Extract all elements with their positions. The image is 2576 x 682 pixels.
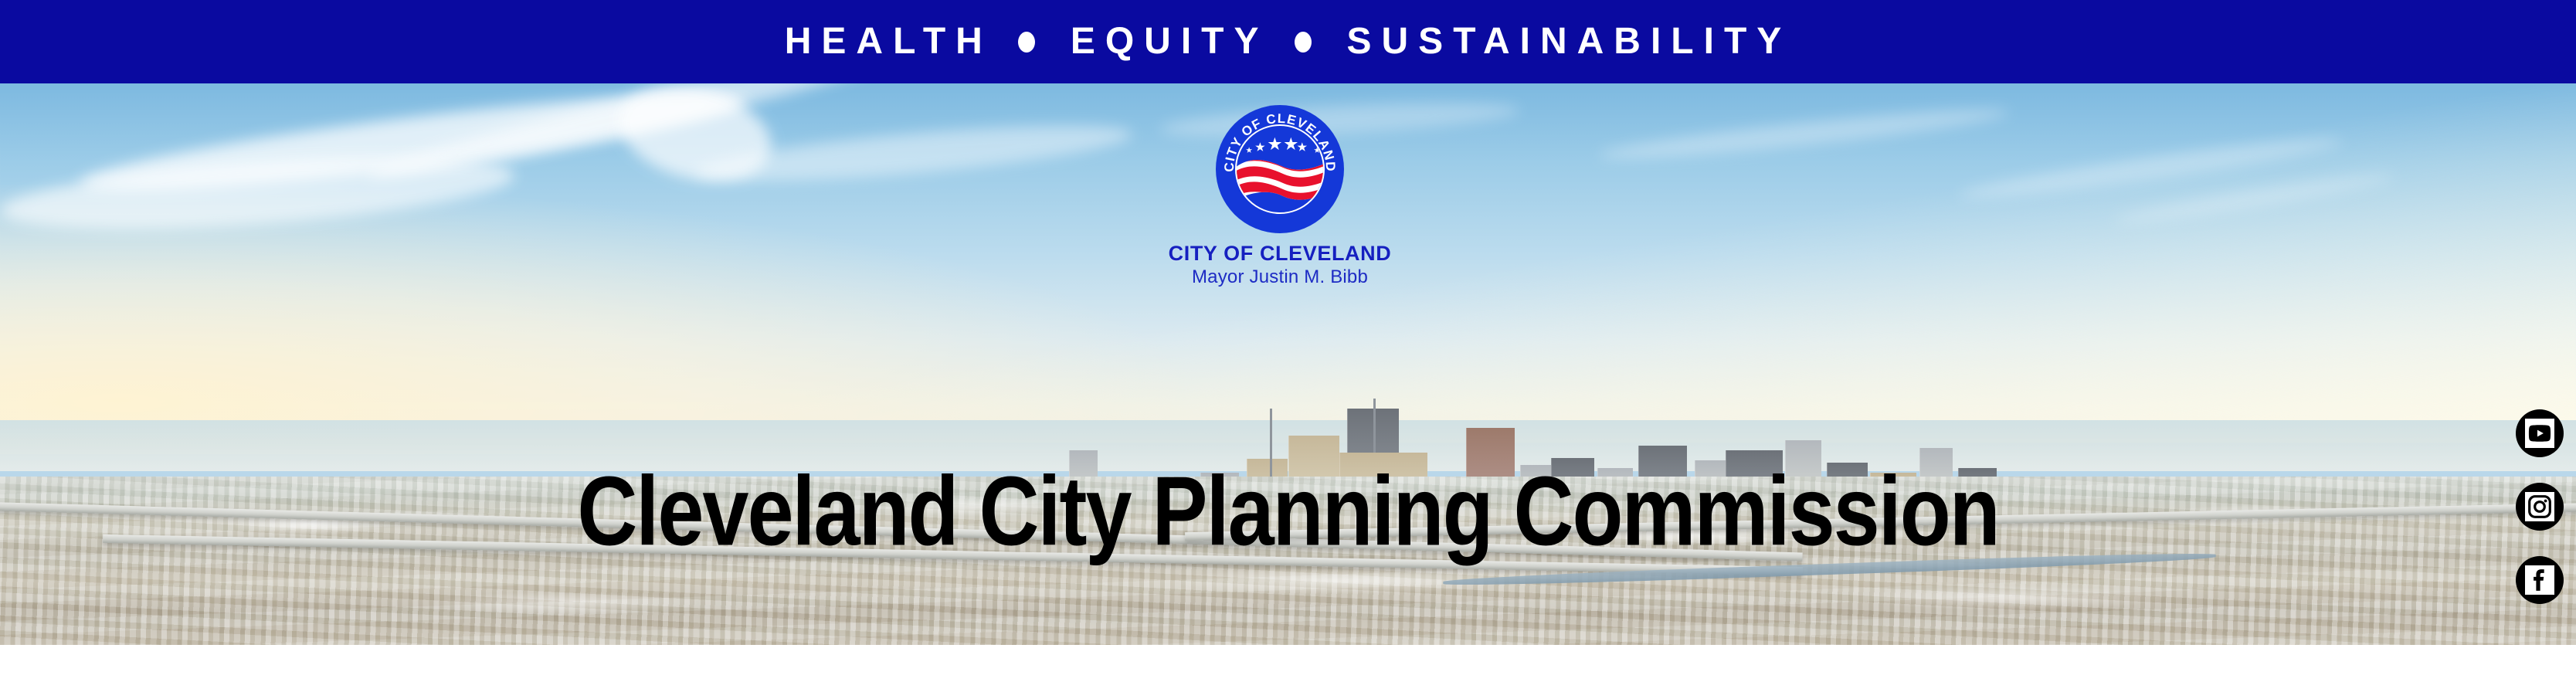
- tagline-banner: HEALTH EQUITY SUSTAINABILITY: [0, 0, 2576, 83]
- footer-whitespace: [0, 645, 2576, 682]
- tagline-word-health: HEALTH: [785, 23, 993, 60]
- facebook-icon: [2525, 565, 2554, 595]
- page-title: Cleveland City Planning Commission: [0, 462, 2576, 560]
- tagline-word-sustainability: SUSTAINABILITY: [1347, 23, 1792, 60]
- tagline-word-equity: EQUITY: [1071, 23, 1269, 60]
- instagram-link[interactable]: [2516, 483, 2564, 531]
- bullet-dot-icon: [1018, 32, 1035, 53]
- youtube-link[interactable]: [2516, 409, 2564, 457]
- youtube-icon: [2525, 419, 2554, 448]
- instagram-icon: [2525, 492, 2554, 521]
- hero-photo: CITY OF CLEVELAND OHIO: [0, 83, 2576, 645]
- bullet-dot-icon: [1295, 32, 1312, 53]
- facebook-link[interactable]: [2516, 556, 2564, 604]
- page-root: HEALTH EQUITY SUSTAINABILITY: [0, 0, 2576, 682]
- city-of-cleveland-label: CITY OF CLEVELAND: [1095, 243, 1465, 264]
- city-branding: CITY OF CLEVELAND OHIO: [1095, 105, 1465, 287]
- city-of-cleveland-seal-icon: CITY OF CLEVELAND OHIO: [1216, 105, 1344, 233]
- tagline-banner-inner: HEALTH EQUITY SUSTAINABILITY: [785, 23, 1792, 60]
- social-links: [2516, 409, 2564, 604]
- seal-inner-disc: [1235, 124, 1325, 214]
- mayor-label: Mayor Justin M. Bibb: [1095, 267, 1465, 287]
